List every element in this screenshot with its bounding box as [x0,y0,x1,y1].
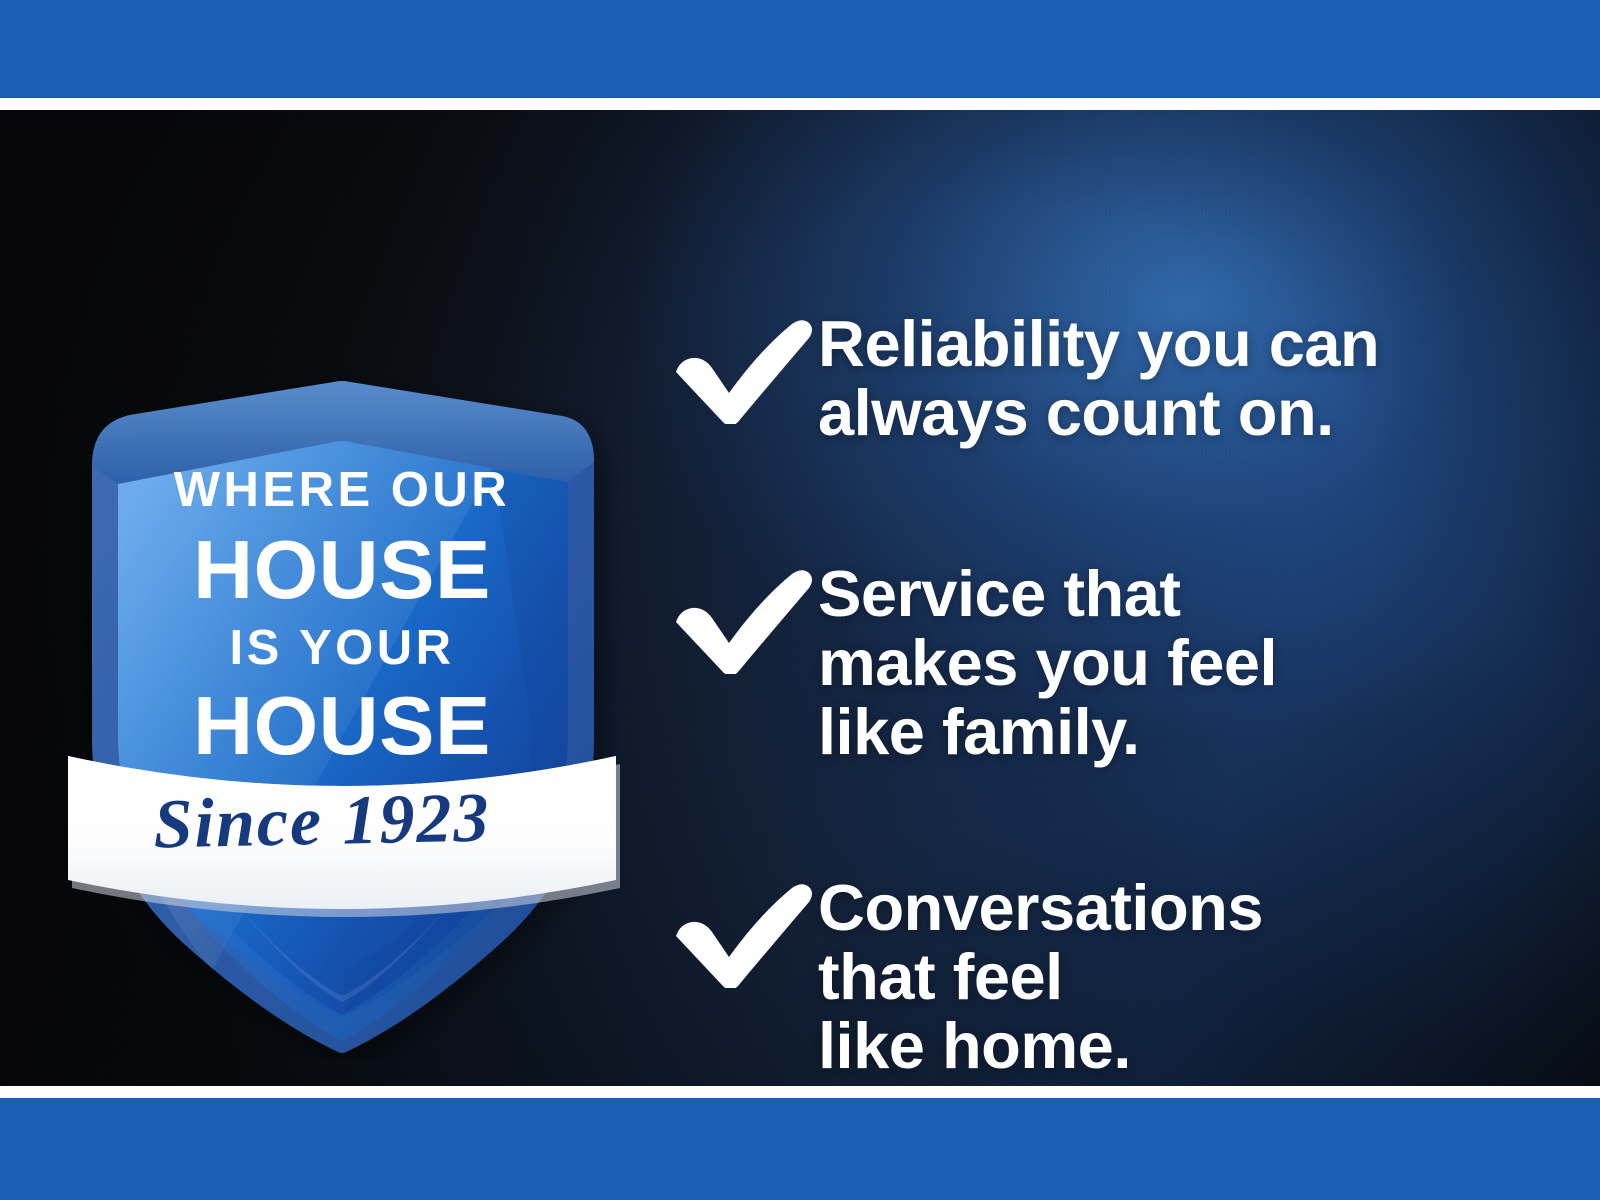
check-icon [668,878,818,988]
top-accent-bar [0,0,1600,98]
main-panel: WHERE OUR HOUSE IS YOUR HOUSE Since 1923… [0,110,1600,1086]
benefits-list: Reliability you can always count on. Ser… [668,260,1548,1081]
check-icon [668,564,818,674]
list-item: Reliability you can always count on. [668,310,1548,448]
list-item-text: Reliability you can always count on. [818,310,1548,448]
bottom-accent-bar [0,1098,1600,1200]
list-item: Conversations that feel like home. [668,874,1548,1081]
promo-graphic: WHERE OUR HOUSE IS YOUR HOUSE Since 1923… [0,0,1600,1200]
shield-badge: WHERE OUR HOUSE IS YOUR HOUSE Since 1923 [62,270,622,1060]
list-item-text: Service that makes you feel like family. [818,560,1548,767]
top-white-separator [0,98,1600,110]
bottom-white-separator [0,1086,1600,1098]
list-item-text: Conversations that feel like home. [818,874,1548,1081]
check-icon [668,314,818,424]
list-item: Service that makes you feel like family. [668,560,1548,767]
